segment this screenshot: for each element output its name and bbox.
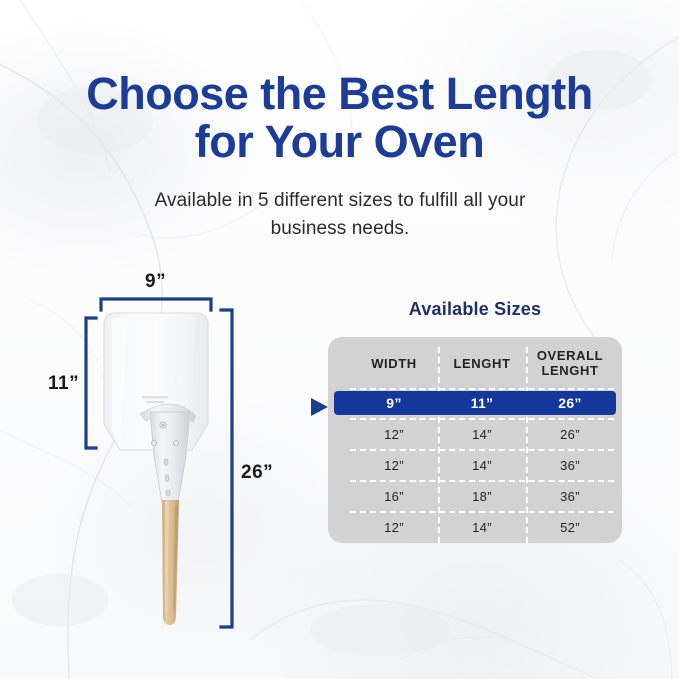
selected-row-arrow-icon: [311, 398, 328, 416]
cell-length: 11”: [438, 391, 526, 415]
cell-overall: 36”: [526, 452, 614, 478]
column-header-overall-length: OVERALL LENGHT: [526, 337, 614, 389]
table-row[interactable]: 12” 14” 26”: [328, 421, 622, 447]
product-illustration: 9” 11” 26”: [0, 0, 340, 679]
bracket-overall: [221, 310, 232, 627]
row-divider-header: [350, 388, 614, 390]
column-header-width: WIDTH: [350, 337, 438, 389]
row-divider-1: [350, 418, 614, 420]
bracket-height: [86, 318, 96, 448]
table-row[interactable]: 12” 14” 36”: [328, 452, 622, 478]
table-row[interactable]: 12” 14” 52”: [328, 514, 622, 540]
cell-width: 12”: [350, 421, 438, 447]
row-divider-3: [350, 480, 614, 482]
cell-width: 12”: [350, 514, 438, 540]
cell-overall: 36”: [526, 483, 614, 509]
dimension-label-overall: 26”: [241, 462, 273, 484]
bracket-width: [101, 299, 211, 310]
dimension-label-width: 9”: [145, 271, 166, 293]
sizes-table: WIDTH LENGHT OVERALL LENGHT 9” 11” 26”: [328, 337, 622, 543]
cell-length: 14”: [438, 452, 526, 478]
row-divider-2: [350, 449, 614, 451]
cell-length: 18”: [438, 483, 526, 509]
peel-socket: [150, 412, 190, 502]
row-divider-4: [350, 511, 614, 513]
column-header-length: LENGHT: [438, 337, 526, 389]
cell-overall: 26”: [526, 391, 614, 415]
overall-line-2: LENGHT: [541, 363, 598, 378]
table-row-selected[interactable]: 9” 11” 26”: [334, 391, 616, 415]
cell-width: 16”: [350, 483, 438, 509]
cell-length: 14”: [438, 421, 526, 447]
infographic-canvas: Choose the Best Length for Your Oven Ava…: [0, 0, 679, 679]
overall-line-1: OVERALL: [537, 348, 603, 363]
cell-width: 12”: [350, 452, 438, 478]
dimension-label-height: 11”: [48, 373, 79, 395]
available-sizes-card: WIDTH LENGHT OVERALL LENGHT 9” 11” 26”: [328, 337, 622, 543]
column-header-length-label: LENGHT: [453, 356, 510, 371]
cell-overall: 52”: [526, 514, 614, 540]
column-header-width-label: WIDTH: [371, 356, 417, 371]
column-header-overall-length-label: OVERALL LENGHT: [537, 348, 603, 378]
table-header-row: WIDTH LENGHT OVERALL LENGHT: [328, 337, 622, 389]
pizza-peel-drawing: [0, 0, 340, 679]
table-row[interactable]: 16” 18” 36”: [328, 483, 622, 509]
cell-overall: 26”: [526, 421, 614, 447]
cell-length: 14”: [438, 514, 526, 540]
available-sizes-heading: Available Sizes: [328, 299, 622, 320]
cell-width: 9”: [350, 391, 438, 415]
